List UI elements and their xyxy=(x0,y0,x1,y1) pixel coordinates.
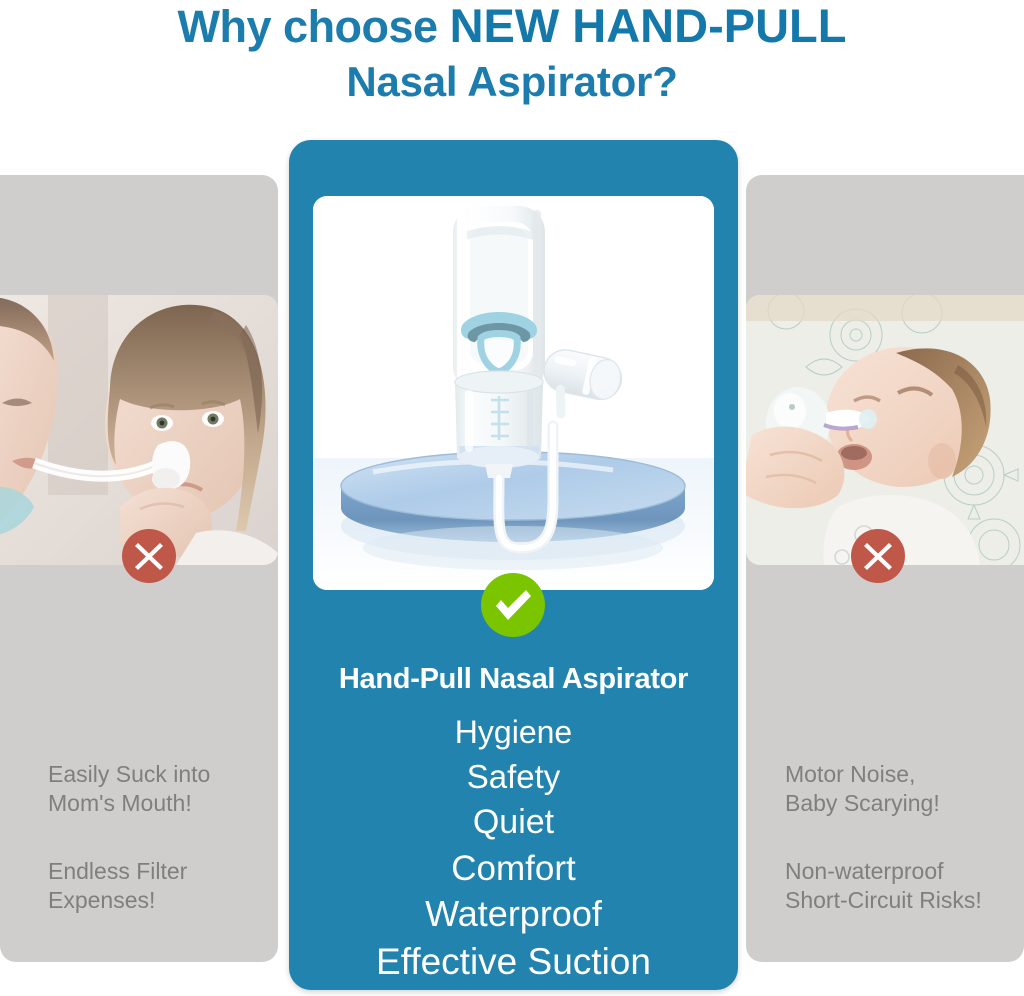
feature-item: Waterproof xyxy=(289,896,738,932)
right-photo-electric-aspirator xyxy=(746,295,1024,565)
left-caption-1-line-1: Easily Suck into xyxy=(48,760,283,789)
page-title: Why choose NEW HAND-PULL Nasal Aspirator… xyxy=(0,0,1024,103)
headline-strong-text: NEW HAND-PULL xyxy=(450,0,847,52)
right-caption-1-exclamation: ! xyxy=(933,790,939,816)
feature-item: Comfort xyxy=(289,851,738,886)
headline-light-text: Why choose xyxy=(178,1,450,52)
card-product-title: Hand-Pull Nasal Aspirator xyxy=(289,663,738,696)
right-caption-2-line-2: Short-Circuit Risks! xyxy=(785,886,1020,915)
left-caption-2-exclamation: ! xyxy=(149,887,155,913)
feature-item: Hygiene xyxy=(289,716,738,748)
feature-item: Safety xyxy=(289,760,738,793)
right-caption-2-exclamation: ! xyxy=(975,887,981,913)
left-caption-1-line-2: Mom's Mouth! xyxy=(48,789,283,818)
headline-line-2: Nasal Aspirator? xyxy=(0,49,1024,103)
right-caption-1: Motor Noise, Baby Scarying! xyxy=(785,760,1020,819)
right-caption-1-line-1: Motor Noise, xyxy=(785,760,1020,789)
left-caption-2: Endless Filter Expenses! xyxy=(48,857,283,916)
left-caption-1-exclamation: ! xyxy=(185,790,191,816)
feature-item: Quiet xyxy=(289,805,738,839)
feature-list: Hygiene Safety Quiet Comfort Waterproof … xyxy=(289,712,738,980)
product-photo xyxy=(313,196,714,590)
left-caption-1: Easily Suck into Mom's Mouth! xyxy=(48,760,283,819)
right-caption-2-line-1: Non-waterproof xyxy=(785,857,1020,886)
left-caption-2-line-2: Expenses! xyxy=(48,886,283,915)
left-cross-mark-icon xyxy=(122,529,176,583)
headline-line-1: Why choose NEW HAND-PULL xyxy=(0,0,1024,49)
left-photo-mouth-aspirator xyxy=(0,295,278,565)
right-caption-1-line-2: Baby Scarying! xyxy=(785,789,1020,818)
right-cross-mark-icon xyxy=(851,529,905,583)
right-caption-2: Non-waterproof Short-Circuit Risks! xyxy=(785,857,1020,916)
check-mark-icon xyxy=(481,573,545,637)
feature-item: Effective Suction xyxy=(289,943,738,980)
left-caption-2-line-1: Endless Filter xyxy=(48,857,283,886)
